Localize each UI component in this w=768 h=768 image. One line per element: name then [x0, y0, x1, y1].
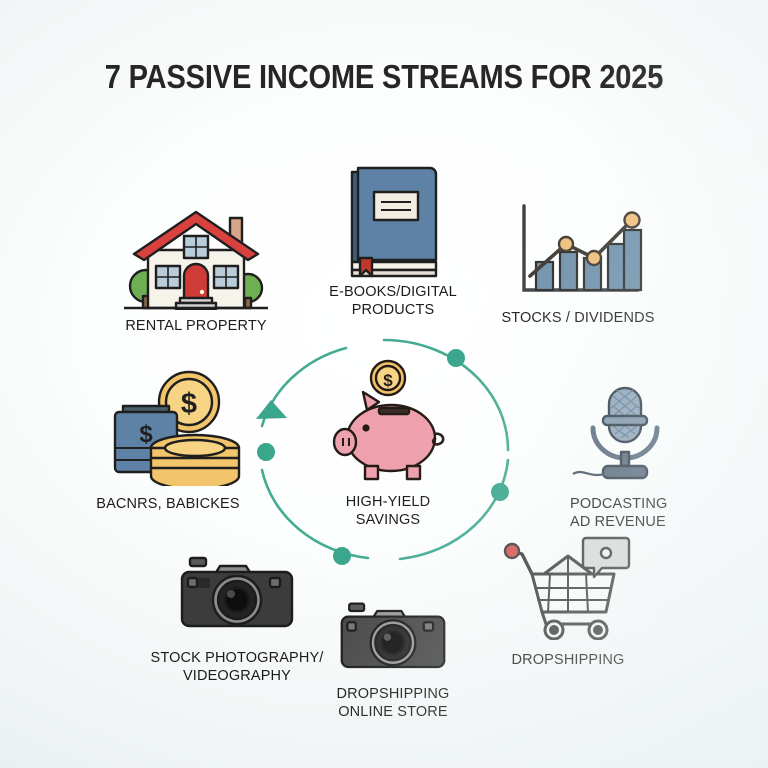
stream-label-rental-property: RENTAL PROPERTY — [118, 318, 274, 336]
stream-label-podcasting: PODCASTING AD REVENUE — [570, 496, 690, 531]
stream-photography[interactable]: STOCK PHOTOGRAPHY/ VIDEOGRAPHY — [142, 552, 332, 685]
stream-label-photography: STOCK PHOTOGRAPHY/ VIDEOGRAPHY — [142, 650, 332, 685]
center-high-yield-savings[interactable]: $ HIGH-YIELD SAVINGS — [318, 358, 458, 529]
stream-label-banks: BACNRS, BABICKES — [88, 496, 248, 514]
stream-ebooks[interactable]: E-BOOKS/DIGITAL PRODUCTS — [318, 158, 468, 319]
piggy-bank-icon: $ — [321, 358, 455, 488]
stream-podcasting[interactable]: PODCASTING AD REVENUE — [560, 382, 690, 531]
book-icon — [334, 158, 452, 280]
camera-icon — [174, 552, 300, 640]
infographic-canvas: 7 PASSIVE INCOME STREAMS FOR 2025 — [0, 0, 768, 768]
stream-label-ebooks: E-BOOKS/DIGITAL PRODUCTS — [318, 284, 468, 319]
shopping-cart-icon — [502, 532, 634, 640]
svg-text:$: $ — [139, 421, 153, 448]
coins-icon: $ $ — [93, 356, 243, 486]
stream-label-dropshipping: DROPSHIPPING — [492, 652, 644, 670]
stream-banks[interactable]: $ $ BACNRS, BABICKES — [88, 356, 248, 514]
center-label: HIGH-YIELD SAVINGS — [318, 494, 458, 529]
stream-stocks[interactable]: STOCKS / DIVIDENDS — [498, 200, 658, 328]
stream-rental-property[interactable]: RENTAL PROPERTY — [118, 206, 274, 336]
page-title: 7 PASSIVE INCOME STREAMS FOR 2025 — [46, 58, 722, 96]
stream-label-stocks: STOCKS / DIVIDENDS — [498, 310, 658, 328]
bar-chart-icon — [508, 200, 648, 300]
stream-online-store[interactable]: DROPSHIPPING ONLINE STORE — [318, 598, 468, 721]
up-arrowhead-icon — [256, 400, 287, 419]
camera-icon — [333, 598, 453, 680]
stream-label-online-store: DROPSHIPPING ONLINE STORE — [318, 686, 468, 721]
stream-dropshipping[interactable]: DROPSHIPPING — [492, 532, 644, 670]
svg-text:$: $ — [383, 371, 393, 390]
microphone-icon — [569, 382, 681, 486]
house-icon — [122, 206, 270, 310]
svg-text:$: $ — [181, 388, 197, 420]
